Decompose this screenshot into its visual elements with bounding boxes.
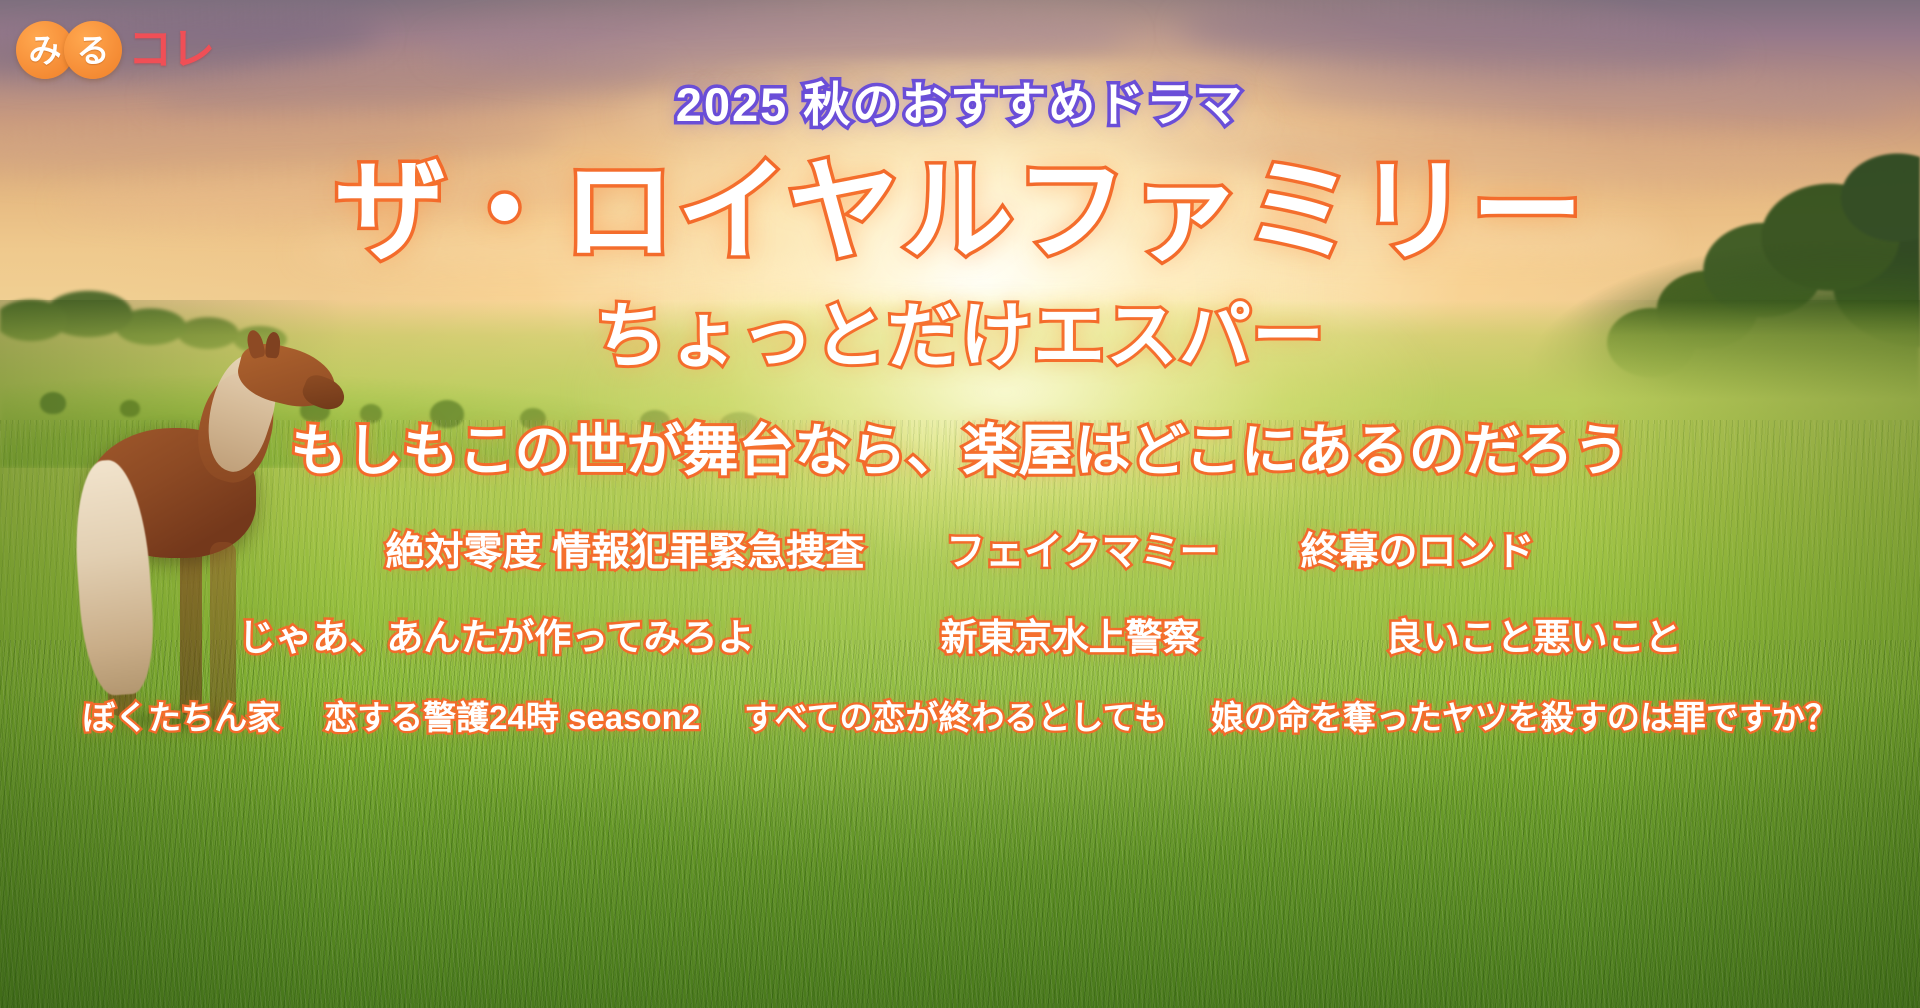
drama-title-item: じゃあ、あんたが作ってみろよ xyxy=(238,607,754,661)
logo-char-ru: る xyxy=(64,21,122,79)
main-drama-title: ザ・ロイヤルファミリー xyxy=(335,153,1586,271)
drama-title-item: 新東京水上警察 xyxy=(941,607,1200,661)
drama-title-item: すべての恋が終わるとしても xyxy=(744,691,1167,739)
drama-row-a: 絶対零度 情報犯罪緊急捜査 フェイクマミー 終幕のロンド xyxy=(0,521,1920,577)
drama-title-item: 恋する警護24時 season2 xyxy=(324,691,700,739)
drama-title-item: 絶対零度 情報犯罪緊急捜査 xyxy=(385,521,864,577)
drama-title-item: 娘の命を奪ったヤツを殺すのは罪ですか？ xyxy=(1211,691,1838,739)
drama-title-item: 終幕のロンド xyxy=(1301,521,1535,577)
promo-text-stack: 2025 秋のおすすめドラマ ザ・ロイヤルファミリー ちょっとだけエスパー もし… xyxy=(0,0,1920,1008)
secondary-drama-title: ちょっとだけエスパー xyxy=(595,277,1325,382)
drama-title-item: フェイクマミー xyxy=(946,521,1218,577)
drama-title-item: 良いこと悪いこと xyxy=(1386,607,1682,661)
miru-kore-logo[interactable]: み る コレ xyxy=(16,14,246,86)
logo-kana-kore: コレ xyxy=(128,28,214,72)
drama-row-c: ぼくたちん家 恋する警護24時 season2 すべての恋が終わるとしても 娘の… xyxy=(0,691,1920,739)
season-label: 2025 秋のおすすめドラマ xyxy=(676,66,1245,135)
drama-title-item: ぼくたちん家 xyxy=(82,691,280,739)
drama-row-b: じゃあ、あんたが作ってみろよ 新東京水上警察 良いこと悪いこと xyxy=(0,607,1920,661)
tertiary-drama-title: もしもこの世が舞台なら、楽屋はどこにあるのだろう xyxy=(291,406,1630,487)
